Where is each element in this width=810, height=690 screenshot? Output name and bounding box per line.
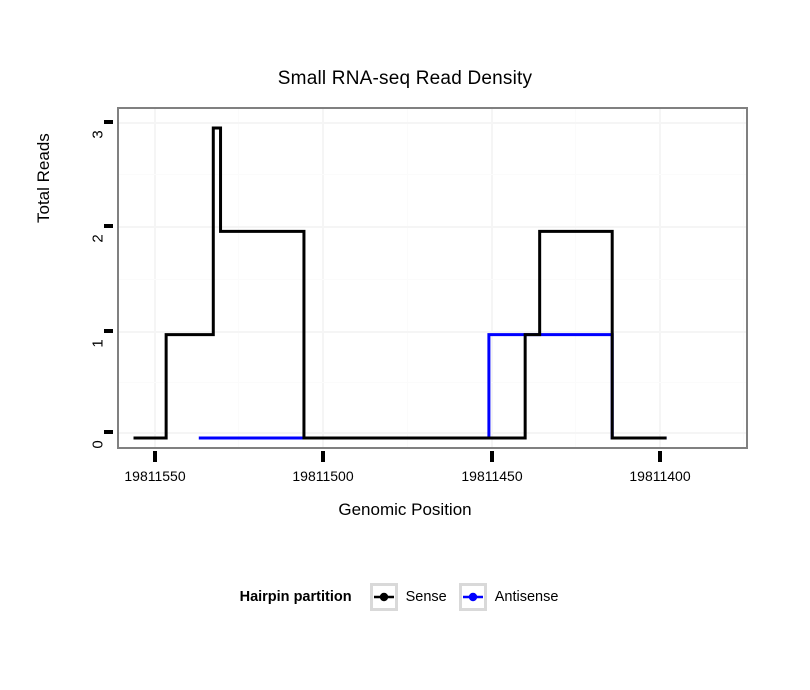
chart-root: Small RNA-seq Read Density Total Reads G…: [0, 0, 810, 690]
plot-panel: [117, 107, 748, 449]
line-point-icon: [462, 586, 484, 608]
line-point-icon: [373, 586, 395, 608]
legend-label-sense: Sense: [406, 589, 447, 605]
x-tick-mark-1: [321, 451, 325, 462]
y-tick-label-0: 0: [90, 432, 107, 458]
y-tick-label-3: 3: [90, 122, 107, 148]
x-tick-mark-2: [490, 451, 494, 462]
series-line-antisense: [199, 335, 667, 438]
x-tick-label-3: 19811400: [600, 468, 720, 484]
x-tick-label-0: 19811550: [95, 468, 215, 484]
legend-entry-sense[interactable]: Sense: [370, 583, 447, 611]
series-line-sense: [134, 128, 667, 438]
x-axis-title: Genomic Position: [0, 500, 810, 520]
legend: Hairpin partition Sense Antisense: [0, 583, 810, 611]
legend-label-antisense: Antisense: [495, 589, 559, 605]
legend-key-antisense: [459, 583, 487, 611]
y-axis-title: Total Reads: [34, 133, 54, 223]
x-tick-mark-3: [658, 451, 662, 462]
series-layer: [119, 109, 750, 451]
y-tick-label-2: 2: [90, 226, 107, 252]
legend-key-sense: [370, 583, 398, 611]
legend-entry-antisense[interactable]: Antisense: [459, 583, 559, 611]
x-tick-mark-0: [153, 451, 157, 462]
y-tick-label-1: 1: [90, 331, 107, 357]
chart-title: Small RNA-seq Read Density: [0, 68, 810, 90]
x-tick-label-2: 19811450: [432, 468, 552, 484]
legend-title: Hairpin partition: [240, 589, 352, 605]
x-tick-label-1: 19811500: [263, 468, 383, 484]
plot-panel-inner: [119, 109, 746, 447]
